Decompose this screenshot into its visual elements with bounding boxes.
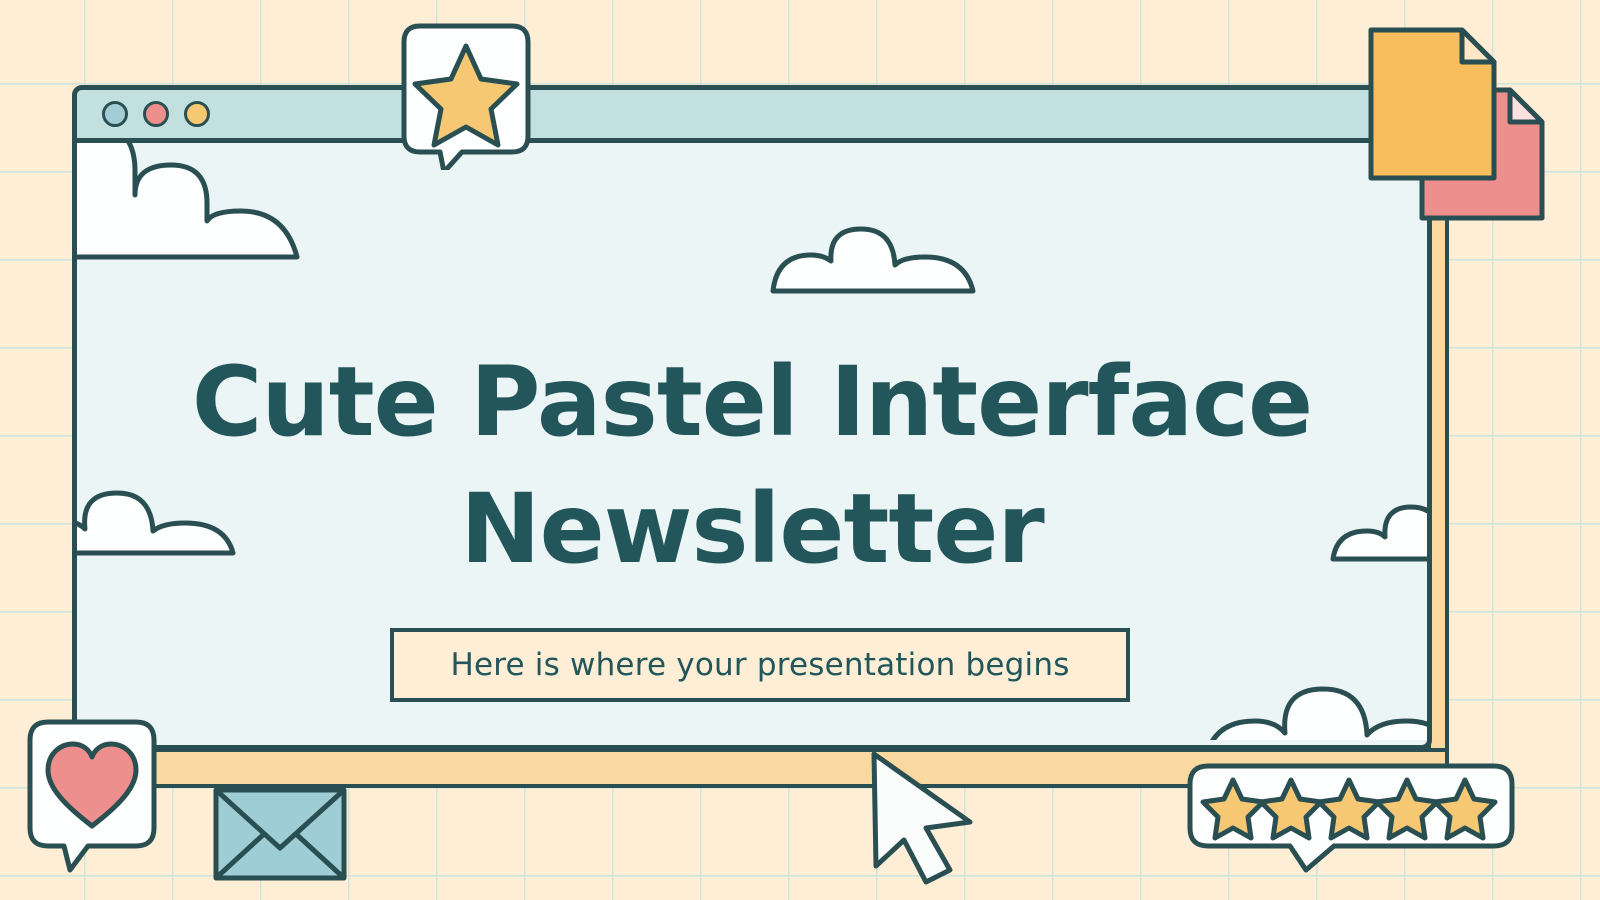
heart-bubble: [26, 718, 158, 882]
cloud-bottom-right-icon: [1199, 671, 1427, 740]
rating-bubble: [1186, 762, 1516, 878]
cloud-top-left-icon: [77, 143, 335, 271]
window-content: Cute Pastel Interface Newsletter Here is…: [77, 143, 1427, 740]
page-title-line-1: Cute Pastel Interface: [192, 346, 1312, 458]
minimize-dot[interactable]: [143, 101, 169, 127]
star-bubble: [400, 22, 532, 174]
cursor-arrow-icon[interactable]: [864, 748, 982, 892]
cloud-top-middle-icon: [767, 221, 987, 305]
browser-window: Cute Pastel Interface Newsletter Here is…: [72, 85, 1432, 750]
maximize-dot[interactable]: [184, 101, 210, 127]
page-title: Cute Pastel Interface Newsletter: [77, 339, 1427, 592]
slide-canvas: Cute Pastel Interface Newsletter Here is…: [0, 0, 1600, 900]
subtitle-box: Here is where your presentation begins: [390, 628, 1130, 702]
page-title-line-2: Newsletter: [460, 473, 1044, 585]
window-titlebar: [77, 90, 1427, 143]
close-dot[interactable]: [102, 101, 128, 127]
subtitle-text: Here is where your presentation begins: [450, 647, 1069, 683]
envelope-icon: [212, 786, 348, 886]
documents-icon: [1366, 20, 1546, 239]
